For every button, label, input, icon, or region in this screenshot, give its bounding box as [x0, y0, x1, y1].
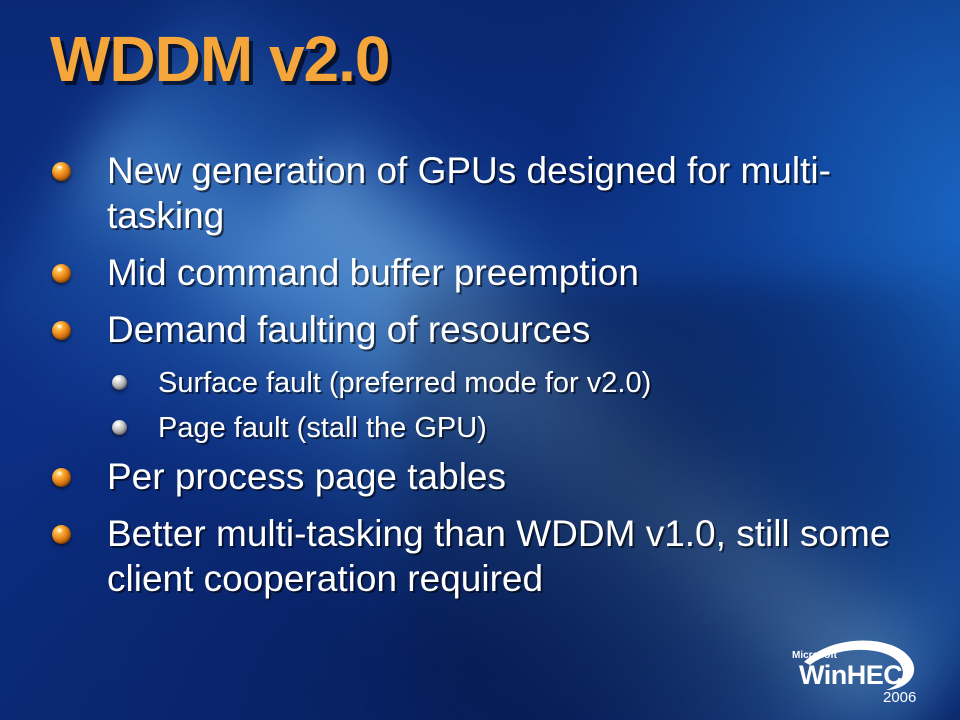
bullet-item-1: New generation of GPUs designed for mult…	[0, 148, 900, 238]
orange-sphere-bullet-icon	[52, 468, 71, 487]
logo-year-text: 2006	[883, 689, 916, 706]
slide-title: WDDM v2.0	[50, 22, 390, 96]
orange-sphere-bullet-icon	[52, 162, 71, 181]
orange-sphere-bullet-icon	[52, 321, 71, 340]
bullet-text: Per process page tables	[107, 454, 506, 499]
presentation-slide: WDDM v2.0 New generation of GPUs designe…	[0, 0, 960, 720]
bullet-text: Better multi-tasking than WDDM v1.0, sti…	[107, 511, 900, 601]
orange-sphere-bullet-icon	[52, 525, 71, 544]
bullet-text: New generation of GPUs designed for mult…	[107, 148, 900, 238]
bullet-item-2: Mid command buffer preemption	[0, 250, 900, 295]
bullet-text: Page fault (stall the GPU)	[158, 409, 487, 448]
winhec-logo: Microsoft WinHEC 2006	[786, 636, 936, 708]
slide-body-content: New generation of GPUs designed for mult…	[0, 148, 900, 613]
bullet-text: Surface fault (preferred mode for v2.0)	[158, 364, 651, 403]
bullet-text: Demand faulting of resources	[107, 307, 590, 352]
bullet-item-5: Better multi-tasking than WDDM v1.0, sti…	[0, 511, 900, 601]
orange-sphere-bullet-icon	[52, 264, 71, 283]
bullet-item-3: Demand faulting of resources	[0, 307, 900, 352]
sub-bullet-item-2: Page fault (stall the GPU)	[0, 409, 900, 448]
silver-sphere-bullet-icon	[112, 375, 127, 390]
silver-sphere-bullet-icon	[112, 420, 127, 435]
bullet-item-4: Per process page tables	[0, 454, 900, 499]
bullet-text: Mid command buffer preemption	[107, 250, 639, 295]
logo-name-text: WinHEC	[799, 660, 902, 690]
sub-bullet-item-1: Surface fault (preferred mode for v2.0)	[0, 364, 900, 403]
